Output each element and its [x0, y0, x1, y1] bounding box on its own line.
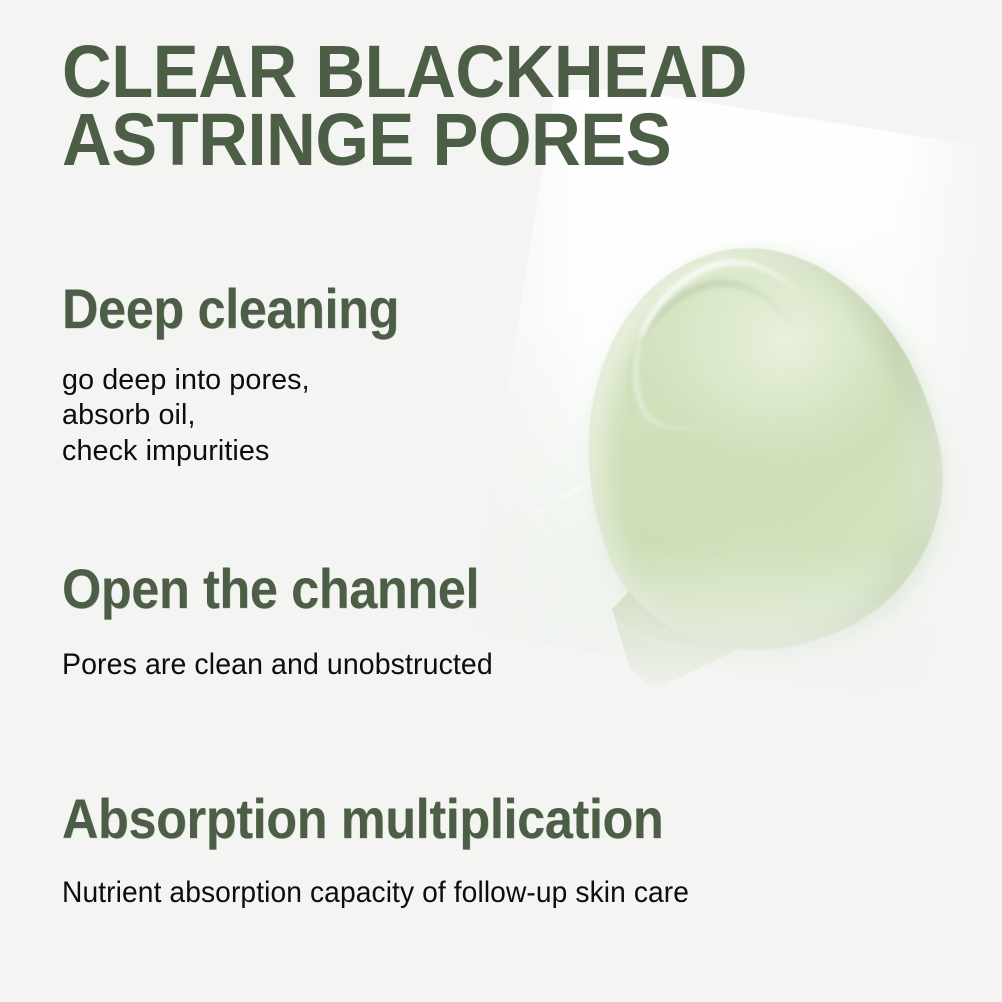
- card-fade-right: [896, 90, 1002, 730]
- cream-swatch-crease: [594, 257, 830, 480]
- cream-swatch-tail: [564, 420, 864, 690]
- feature-body-absorption-multiplication: Nutrient absorption capacity of follow-u…: [62, 875, 690, 912]
- feature-section-open-the-channel: Open the channel Pores are clean and uno…: [62, 560, 525, 684]
- feature-body-open-the-channel: Pores are clean and unobstructed: [62, 647, 502, 684]
- page-title: CLEAR BLACKHEAD ASTRINGE PORES: [62, 38, 747, 174]
- feature-section-deep-cleaning: Deep cleaning go deep into pores, absorb…: [62, 280, 436, 469]
- feature-body-deep-cleaning: go deep into pores, absorb oil, check im…: [62, 363, 433, 469]
- cream-swatch-photo: [472, 90, 1002, 730]
- cream-swatch-blob: [536, 208, 983, 689]
- feature-title-absorption-multiplication: Absorption multiplication: [62, 790, 663, 847]
- feature-title-open-the-channel: Open the channel: [62, 560, 479, 617]
- cream-swatch-tail-shading: [564, 420, 864, 690]
- product-feature-poster: CLEAR BLACKHEAD ASTRINGE PORES Deep clea…: [0, 0, 1002, 1002]
- feature-title-deep-cleaning: Deep cleaning: [62, 280, 399, 337]
- cream-swatch-gloss-highlight: [600, 235, 838, 452]
- feature-section-absorption-multiplication: Absorption multiplication Nutrient absor…: [62, 790, 730, 912]
- cream-swatch-tail-highlight: [535, 387, 870, 715]
- card-fade-bottom: [472, 544, 1002, 730]
- white-paper-card: [472, 90, 1002, 704]
